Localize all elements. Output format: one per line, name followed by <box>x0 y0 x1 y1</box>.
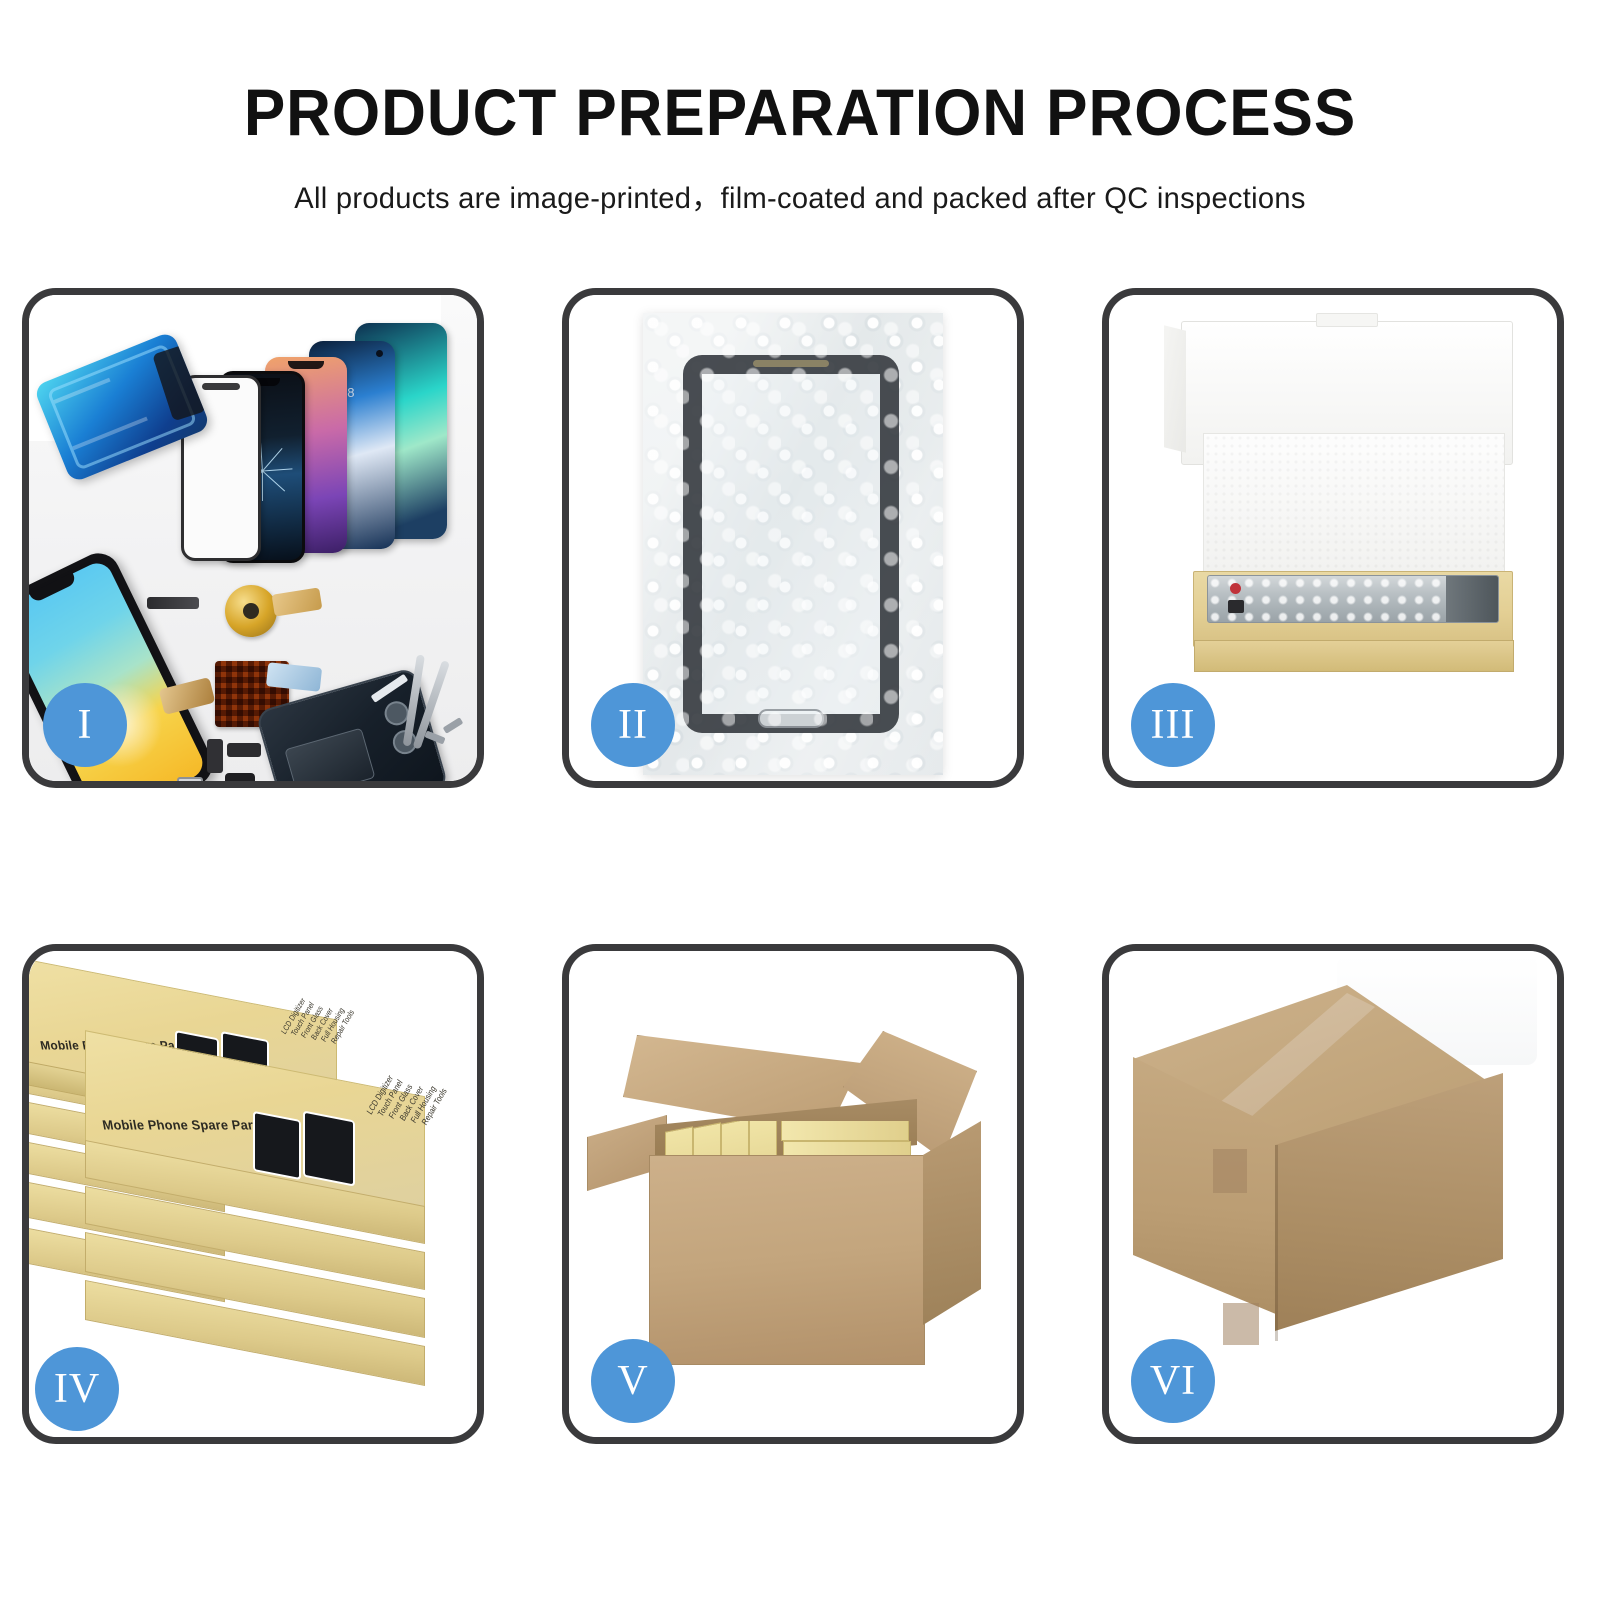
foam-insert <box>1203 433 1505 585</box>
flex-cable-gold-part <box>272 587 323 616</box>
battery-part <box>284 728 375 781</box>
infographic-page: PRODUCT PREPARATION PROCESS All products… <box>0 0 1600 1600</box>
wrapped-screen-in-box <box>1207 575 1499 623</box>
bubble-wrap-sheet <box>643 313 943 775</box>
box-screen-image <box>253 1111 301 1180</box>
connector-block <box>1228 600 1244 613</box>
mailer-front-wall <box>1194 640 1514 672</box>
carton-corner-seam <box>1275 1145 1278 1341</box>
carton-front-face <box>649 1155 925 1365</box>
open-shipping-carton <box>593 1003 1003 1403</box>
camera-module-part <box>225 773 255 781</box>
carton-side-face <box>923 1121 981 1325</box>
step-badge-4: IV <box>35 1347 119 1431</box>
sim-tray-part <box>177 777 203 781</box>
small-connector-part <box>227 743 261 757</box>
box-screen-image <box>303 1111 355 1187</box>
sealed-shipping-carton <box>1127 971 1551 1391</box>
wrapped-screen-assembly <box>683 355 899 733</box>
box-brand-label: Mobile Phone Spare Parts <box>101 1117 266 1132</box>
open-mailer-box <box>1157 321 1533 721</box>
page-title: PRODUCT PREPARATION PROCESS <box>48 78 1552 147</box>
carton-tape-tab <box>1213 1149 1247 1193</box>
step-badge-2: II <box>591 683 675 767</box>
wireless-charging-coil-part <box>225 585 277 637</box>
header: PRODUCT PREPARATION PROCESS All products… <box>0 0 1600 217</box>
step-card-1[interactable]: 08:08 <box>22 288 484 788</box>
page-subtitle: All products are image-printed，film-coat… <box>24 173 1576 217</box>
button-flex-part <box>207 739 223 773</box>
step-card-2[interactable]: II <box>562 288 1024 788</box>
lid-tab <box>1316 313 1378 327</box>
step-card-6[interactable]: VI <box>1102 944 1564 1444</box>
step-badge-1: I <box>43 683 127 767</box>
step-badge-5: V <box>591 1339 675 1423</box>
carton-tape-tab <box>1223 1303 1259 1345</box>
step-badge-3: III <box>1131 683 1215 767</box>
step-badge-6: VI <box>1131 1339 1215 1423</box>
home-button-icon <box>758 709 824 728</box>
flex-cable-amber-part <box>159 677 216 715</box>
step-card-4[interactable]: Mobile Phone Spare Parts LCD Digitizer T… <box>22 944 484 1444</box>
mailer-box-item <box>781 1121 909 1141</box>
red-flex-marker <box>1230 583 1241 594</box>
earpiece-mesh-part <box>147 597 199 609</box>
lid-side-flap <box>1164 325 1186 452</box>
screen-dark-end <box>1446 576 1498 622</box>
step-card-3[interactable]: III <box>1102 288 1564 788</box>
pull-tab-tape <box>371 674 409 703</box>
steps-grid: 08:08 <box>22 288 1578 1444</box>
step-card-5[interactable]: V <box>562 944 1024 1444</box>
earpiece-speaker-icon <box>753 360 829 367</box>
